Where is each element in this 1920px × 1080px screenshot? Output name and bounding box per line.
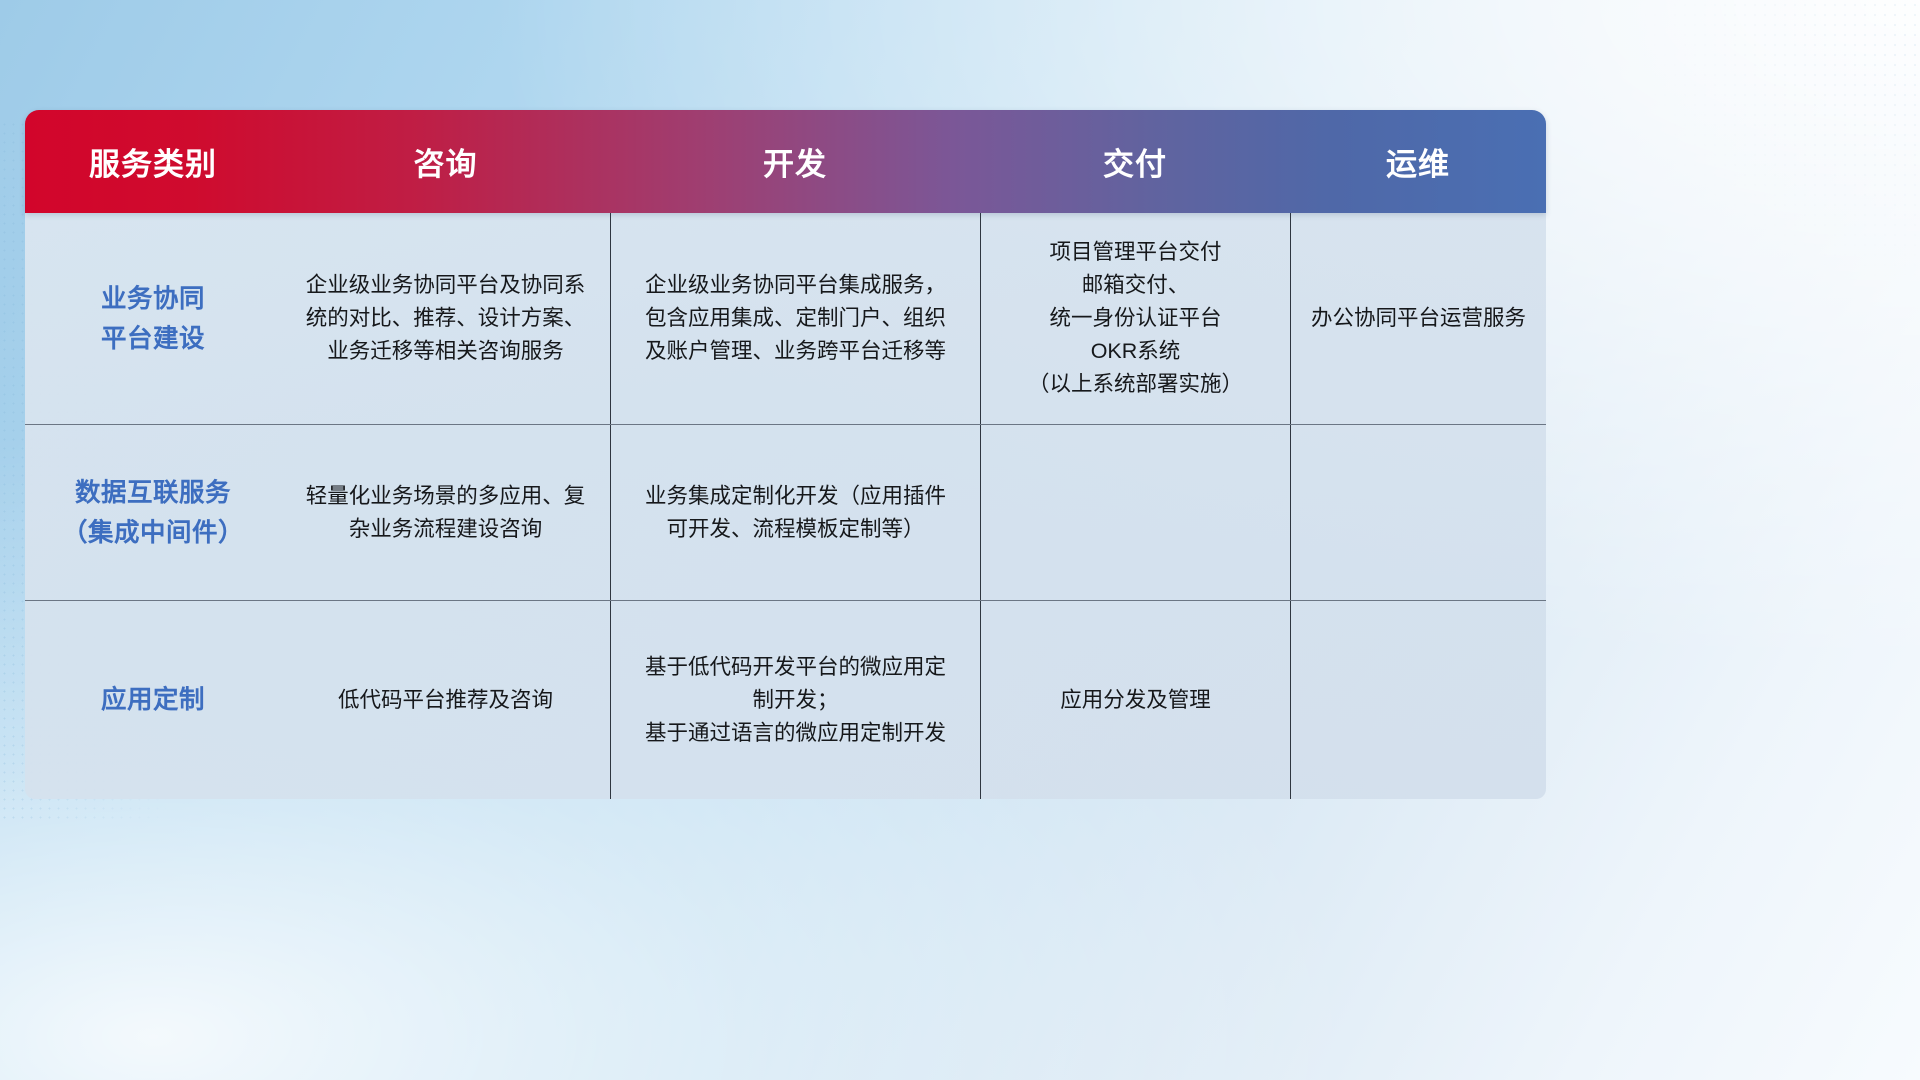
row-label-business-collaboration: 业务协同 平台建设 [25,213,281,424]
cell-consulting-row2: 轻量化业务场景的多应用、复 杂业务流程建设咨询 [281,425,610,600]
cell-consulting-row1: 企业级业务协同平台及协同系 统的对比、推荐、设计方案、 业务迁移等相关咨询服务 [281,213,610,424]
table-body: 业务协同 平台建设 企业级业务协同平台及协同系 统的对比、推荐、设计方案、 业务… [25,213,1546,799]
table-header-row: 服务类别 咨询 开发 交付 运维 [25,110,1546,213]
table-row: 应用定制 低代码平台推荐及咨询 基于低代码开发平台的微应用定 制开发； 基于通过… [25,600,1546,799]
cell-line: 业务迁移等相关咨询服务 [306,335,586,368]
cell-line: 办公协同平台运营服务 [1311,302,1526,335]
header-consulting: 咨询 [281,139,610,184]
cell-line: 企业级业务协同平台集成服务， [645,269,946,302]
cell-line: 基于低代码开发平台的微应用定 [645,651,946,684]
header-development: 开发 [610,139,980,184]
cell-line: 低代码平台推荐及咨询 [338,684,553,717]
cell-delivery-row1: 项目管理平台交付 邮箱交付、 统一身份认证平台 OKR系统 （以上系统部署实施） [980,213,1290,424]
table-row: 数据互联服务 （集成中间件） 轻量化业务场景的多应用、复 杂业务流程建设咨询 业… [25,424,1546,600]
service-matrix-table: 服务类别 咨询 开发 交付 运维 业务协同 平台建设 企业级业务协同平台及协同系 [25,110,1546,799]
cell-line: OKR系统 [1028,335,1243,368]
cell-line: 可开发、流程模板定制等） [645,513,946,546]
cell-line: 轻量化业务场景的多应用、复 [306,480,586,513]
cell-operations-row3 [1290,601,1546,799]
cell-line: 统的对比、推荐、设计方案、 [306,302,586,335]
header-delivery: 交付 [980,139,1290,184]
cell-line: 杂业务流程建设咨询 [306,513,586,546]
row-label-app-customization: 应用定制 [25,601,281,799]
row-label-line: 平台建设 [101,319,205,359]
row-label-line: （集成中间件） [62,513,244,553]
slide-canvas: 服务类别 咨询 开发 交付 运维 业务协同 平台建设 企业级业务协同平台及协同系 [0,0,1920,1080]
row-label-line: 数据互联服务 [62,473,244,513]
row-label-line: 应用定制 [101,680,205,720]
cell-line: 基于通过语言的微应用定制开发 [645,717,946,750]
cell-line: 邮箱交付、 [1028,269,1243,302]
cell-line: 业务集成定制化开发（应用插件 [645,480,946,513]
row-label-line: 业务协同 [101,279,205,319]
cell-line: 项目管理平台交付 [1028,236,1243,269]
header-service-category: 服务类别 [25,139,281,184]
table-row: 业务协同 平台建设 企业级业务协同平台及协同系 统的对比、推荐、设计方案、 业务… [25,213,1546,424]
cell-line: 统一身份认证平台 [1028,302,1243,335]
cell-line: 及账户管理、业务跨平台迁移等 [645,335,946,368]
cell-development-row2: 业务集成定制化开发（应用插件 可开发、流程模板定制等） [610,425,980,600]
cell-line: 应用分发及管理 [1060,684,1211,717]
cell-operations-row1: 办公协同平台运营服务 [1290,213,1546,424]
cell-consulting-row3: 低代码平台推荐及咨询 [281,601,610,799]
cell-line: 企业级业务协同平台及协同系 [306,269,586,302]
row-label-data-interconnect: 数据互联服务 （集成中间件） [25,425,281,600]
header-operations: 运维 [1290,139,1546,184]
cell-development-row3: 基于低代码开发平台的微应用定 制开发； 基于通过语言的微应用定制开发 [610,601,980,799]
cell-delivery-row3: 应用分发及管理 [980,601,1290,799]
cell-line: 包含应用集成、定制门户、组织 [645,302,946,335]
cell-delivery-row2 [980,425,1290,600]
cell-line: 制开发； [645,684,946,717]
cell-development-row1: 企业级业务协同平台集成服务， 包含应用集成、定制门户、组织 及账户管理、业务跨平… [610,213,980,424]
cell-operations-row2 [1290,425,1546,600]
cell-line: （以上系统部署实施） [1028,368,1243,401]
